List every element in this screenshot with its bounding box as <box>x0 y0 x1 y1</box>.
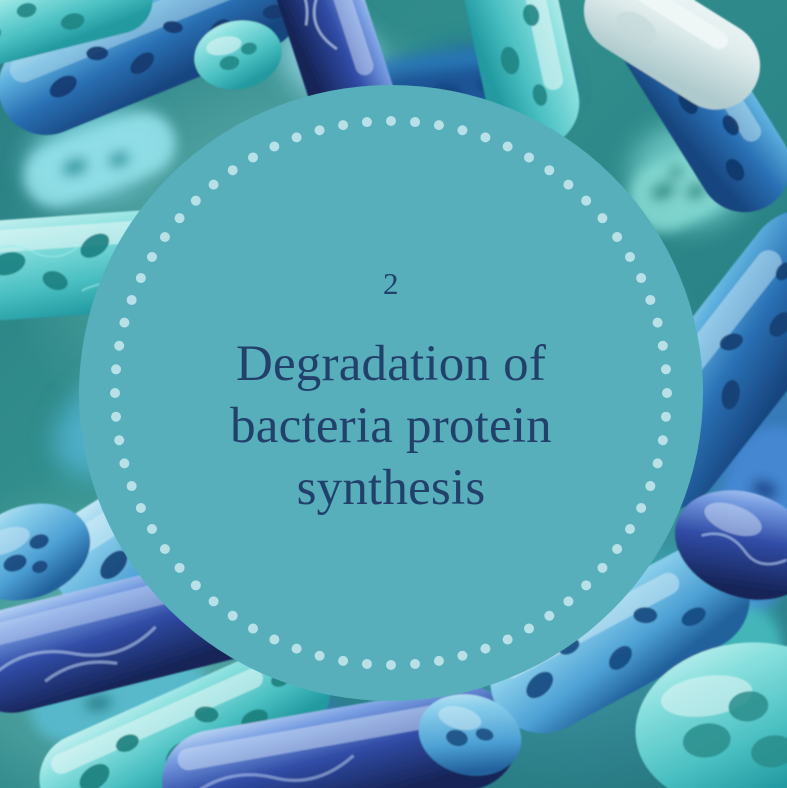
slide-canvas: 2 Degradation of bacteria protein synthe… <box>0 0 787 788</box>
slide-title-line-3: synthesis <box>176 457 606 519</box>
title-circle-badge: 2 Degradation of bacteria protein synthe… <box>79 85 703 701</box>
slide-title-line-1: Degradation of <box>176 333 606 395</box>
slide-title: Degradation of bacteria protein synthesi… <box>176 333 606 519</box>
slide-title-line-2: bacteria protein <box>176 395 606 457</box>
slide-number: 2 <box>176 268 606 299</box>
badge-text-block: 2 Degradation of bacteria protein synthe… <box>176 268 606 519</box>
